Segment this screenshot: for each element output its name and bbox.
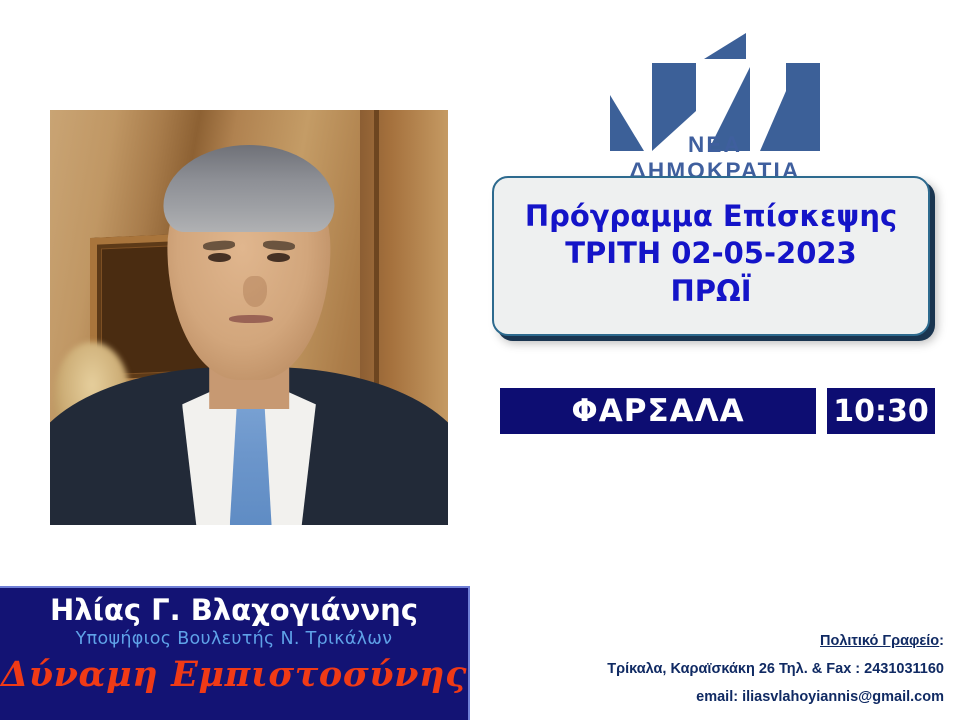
program-date: ΤΡΙΤΗ 02-05-2023 <box>565 235 856 272</box>
candidate-banner: Ηλίας Γ. Βλαχογιάννης Υποψήφιος Βουλευτή… <box>0 586 470 720</box>
program-period: ΠΡΩΪ <box>671 273 752 310</box>
program-title: Πρόγραμμα Επίσκεψης <box>525 198 897 235</box>
contact-office-colon: : <box>939 633 944 649</box>
program-announcement-box: Πρόγραμμα Επίσκεψης ΤΡΙΤΗ 02-05-2023 ΠΡΩ… <box>492 176 930 336</box>
event-location-bar: ΦΑΡΣΑΛΑ <box>500 388 816 434</box>
event-location-label: ΦΑΡΣΑΛΑ <box>571 393 744 429</box>
contact-address: Τρίκαλα, Καραϊσκάκη 26 Τηλ. & Fax : 2431… <box>514 656 944 684</box>
portrait-mouth <box>229 315 273 322</box>
portrait-nose <box>243 276 267 307</box>
candidate-portrait-photo <box>50 110 448 525</box>
contact-office-line: Πολιτικό Γραφείο: <box>514 628 944 656</box>
candidate-role: Υποψήφιος Βουλευτής Ν. Τρικάλων <box>0 626 468 652</box>
contact-email[interactable]: email: iliasvlahoyiannis@gmail.com <box>514 684 944 712</box>
contact-office-label: Πολιτικό Γραφείο <box>820 633 939 649</box>
candidate-name: Ηλίας Γ. Βλαχογιάννης <box>0 594 468 626</box>
candidate-slogan: Δύναμη Εμπιστοσύνης <box>0 654 468 695</box>
contact-block: Πολιτικό Γραφείο: Τρίκαλα, Καραϊσκάκη 26… <box>514 628 944 711</box>
event-time-badge: 10:30 <box>827 388 935 434</box>
campaign-poster: ΝΕΑ ΔΗΜΟΚΡΑΤΙΑ Πρόγραμμα Επίσκεψης ΤΡΙΤΗ… <box>0 0 960 720</box>
event-time-label: 10:30 <box>833 394 929 429</box>
